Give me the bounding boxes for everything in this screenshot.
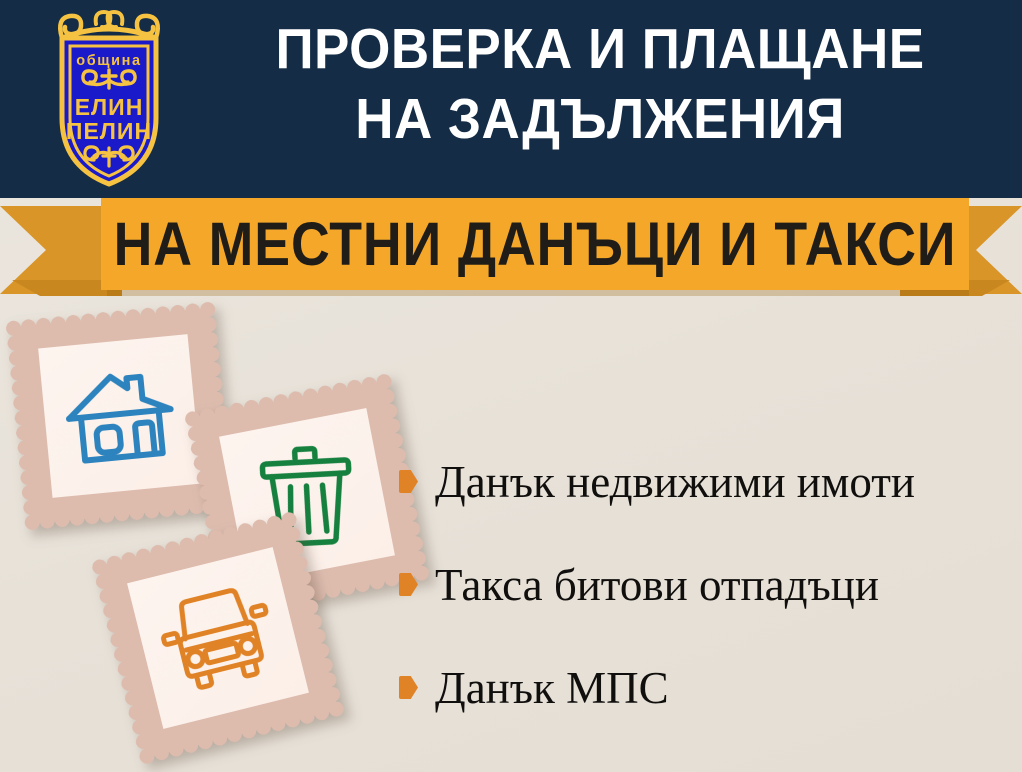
list-item-label: Такса битови отпадъци xyxy=(435,560,879,610)
subtitle-ribbon: НА МЕСТНИ ДАНЪЦИ И ТАКСИ xyxy=(0,198,1022,298)
arrow-bullet-icon xyxy=(399,676,418,699)
list-item-label: Данък недвижими имоти xyxy=(435,457,915,507)
ribbon-label: НА МЕСТНИ ДАНЪЦИ И ТАКСИ xyxy=(153,198,917,290)
poster-canvas: община ЕЛИН ПЕЛИН xyxy=(0,0,1022,772)
house-icon xyxy=(60,362,181,470)
municipality-coat-of-arms-icon: община ЕЛИН ПЕЛИН xyxy=(34,8,184,190)
list-item[interactable]: Данък недвижими имоти xyxy=(399,430,1009,533)
header-bar: община ЕЛИН ПЕЛИН xyxy=(0,0,1022,198)
svg-text:ЕЛИН: ЕЛИН xyxy=(75,94,144,120)
page-title: ПРОВЕРКА И ПЛАЩАНЕ НА ЗАДЪЛЖЕНИЯ xyxy=(219,14,982,154)
arrow-bullet-icon xyxy=(399,573,418,596)
list-item[interactable]: Такса битови отпадъци xyxy=(399,533,1009,636)
ribbon-band: НА МЕСТНИ ДАНЪЦИ И ТАКСИ xyxy=(101,198,969,290)
list-item[interactable]: Данък МПС xyxy=(399,636,1009,739)
car-icon xyxy=(150,577,286,698)
svg-text:община: община xyxy=(76,53,141,69)
list-item-label: Данък МПС xyxy=(435,663,669,713)
page-title-line-2: НА ЗАДЪЛЖЕНИЯ xyxy=(219,84,982,154)
page-title-line-1: ПРОВЕРКА И ПЛАЩАНЕ xyxy=(219,14,982,84)
stamp-paper xyxy=(38,334,202,498)
services-list: Данък недвижими имоти Такса битови отпад… xyxy=(399,430,1009,739)
svg-text:ПЕЛИН: ПЕЛИН xyxy=(66,118,152,144)
arrow-bullet-icon xyxy=(399,470,418,493)
vehicle-stamp xyxy=(99,519,337,757)
